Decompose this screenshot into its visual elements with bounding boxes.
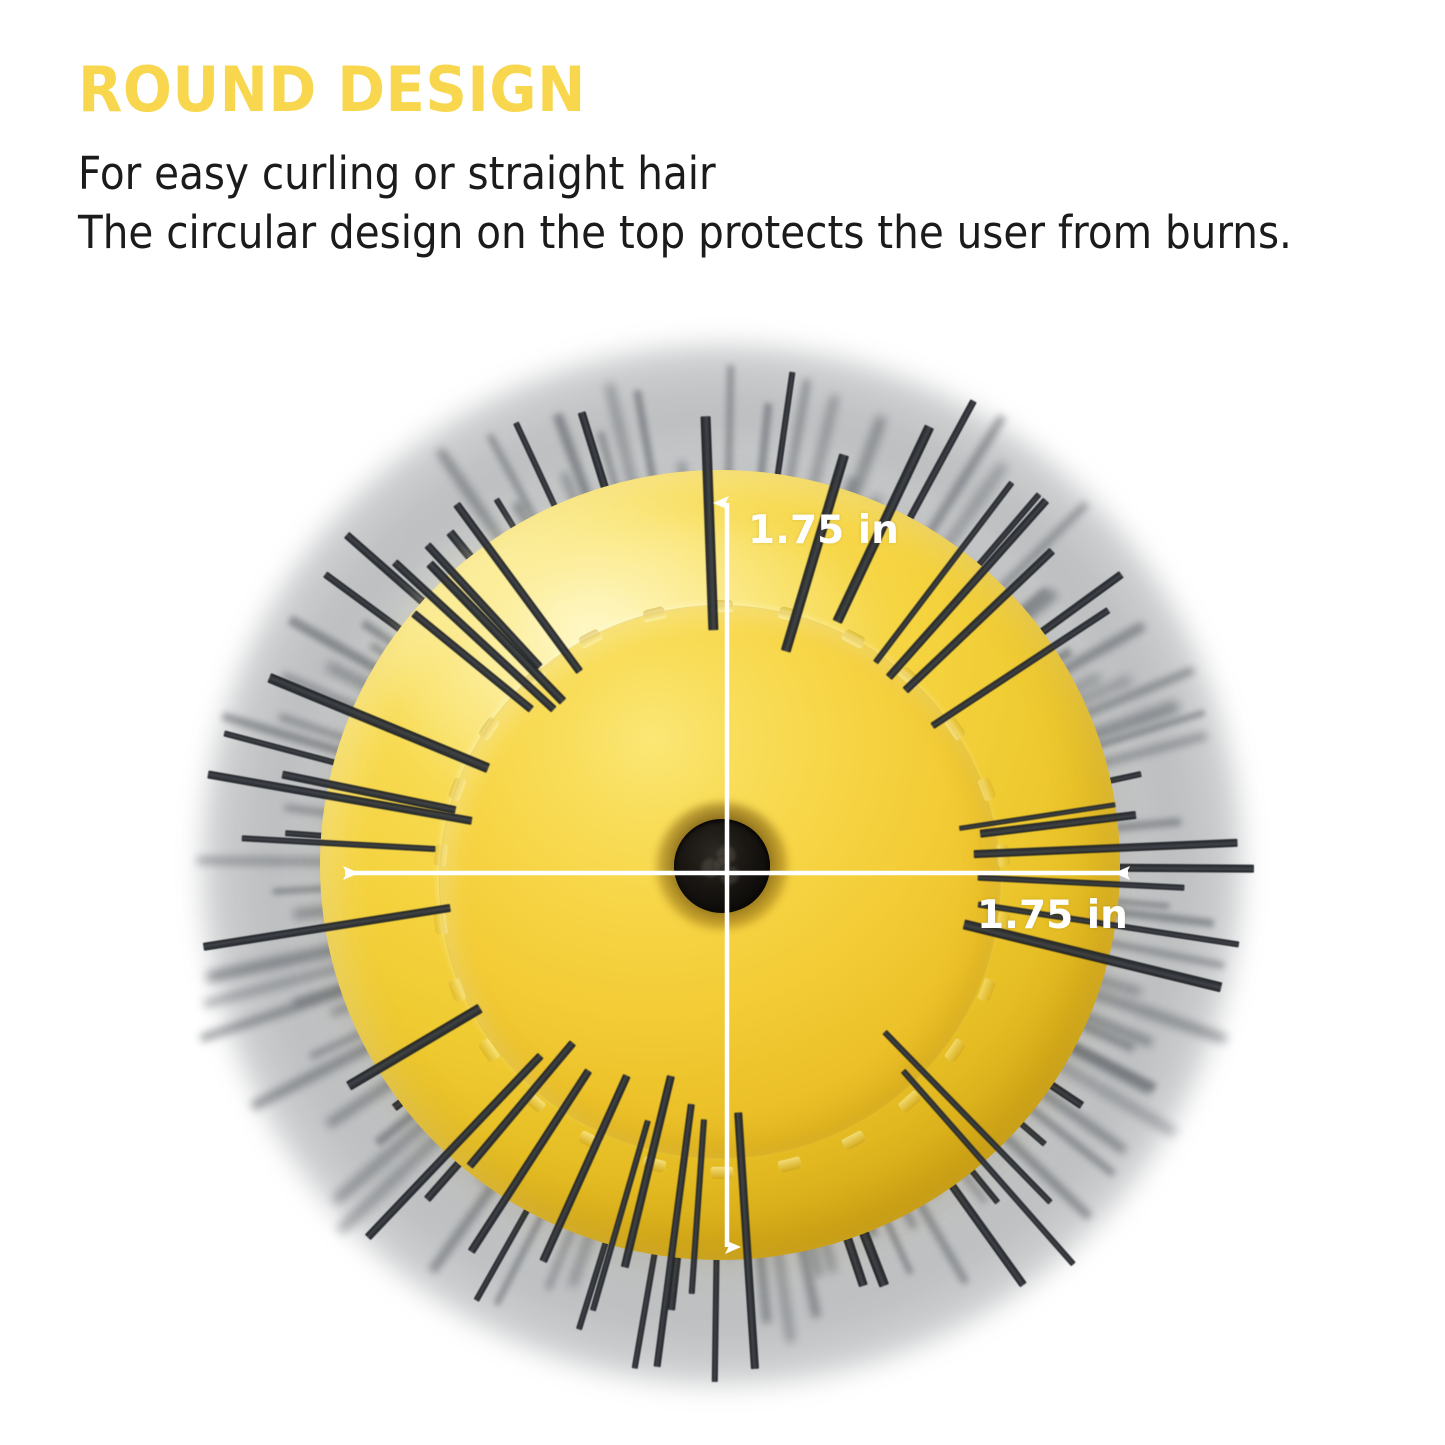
product-photo: 1.75 in 1.75 in <box>0 0 1445 1445</box>
dimension-label-vertical: 1.75 in <box>748 508 899 553</box>
dimension-label-horizontal: 1.75 in <box>977 893 1128 938</box>
brush-center-hub <box>674 819 770 913</box>
